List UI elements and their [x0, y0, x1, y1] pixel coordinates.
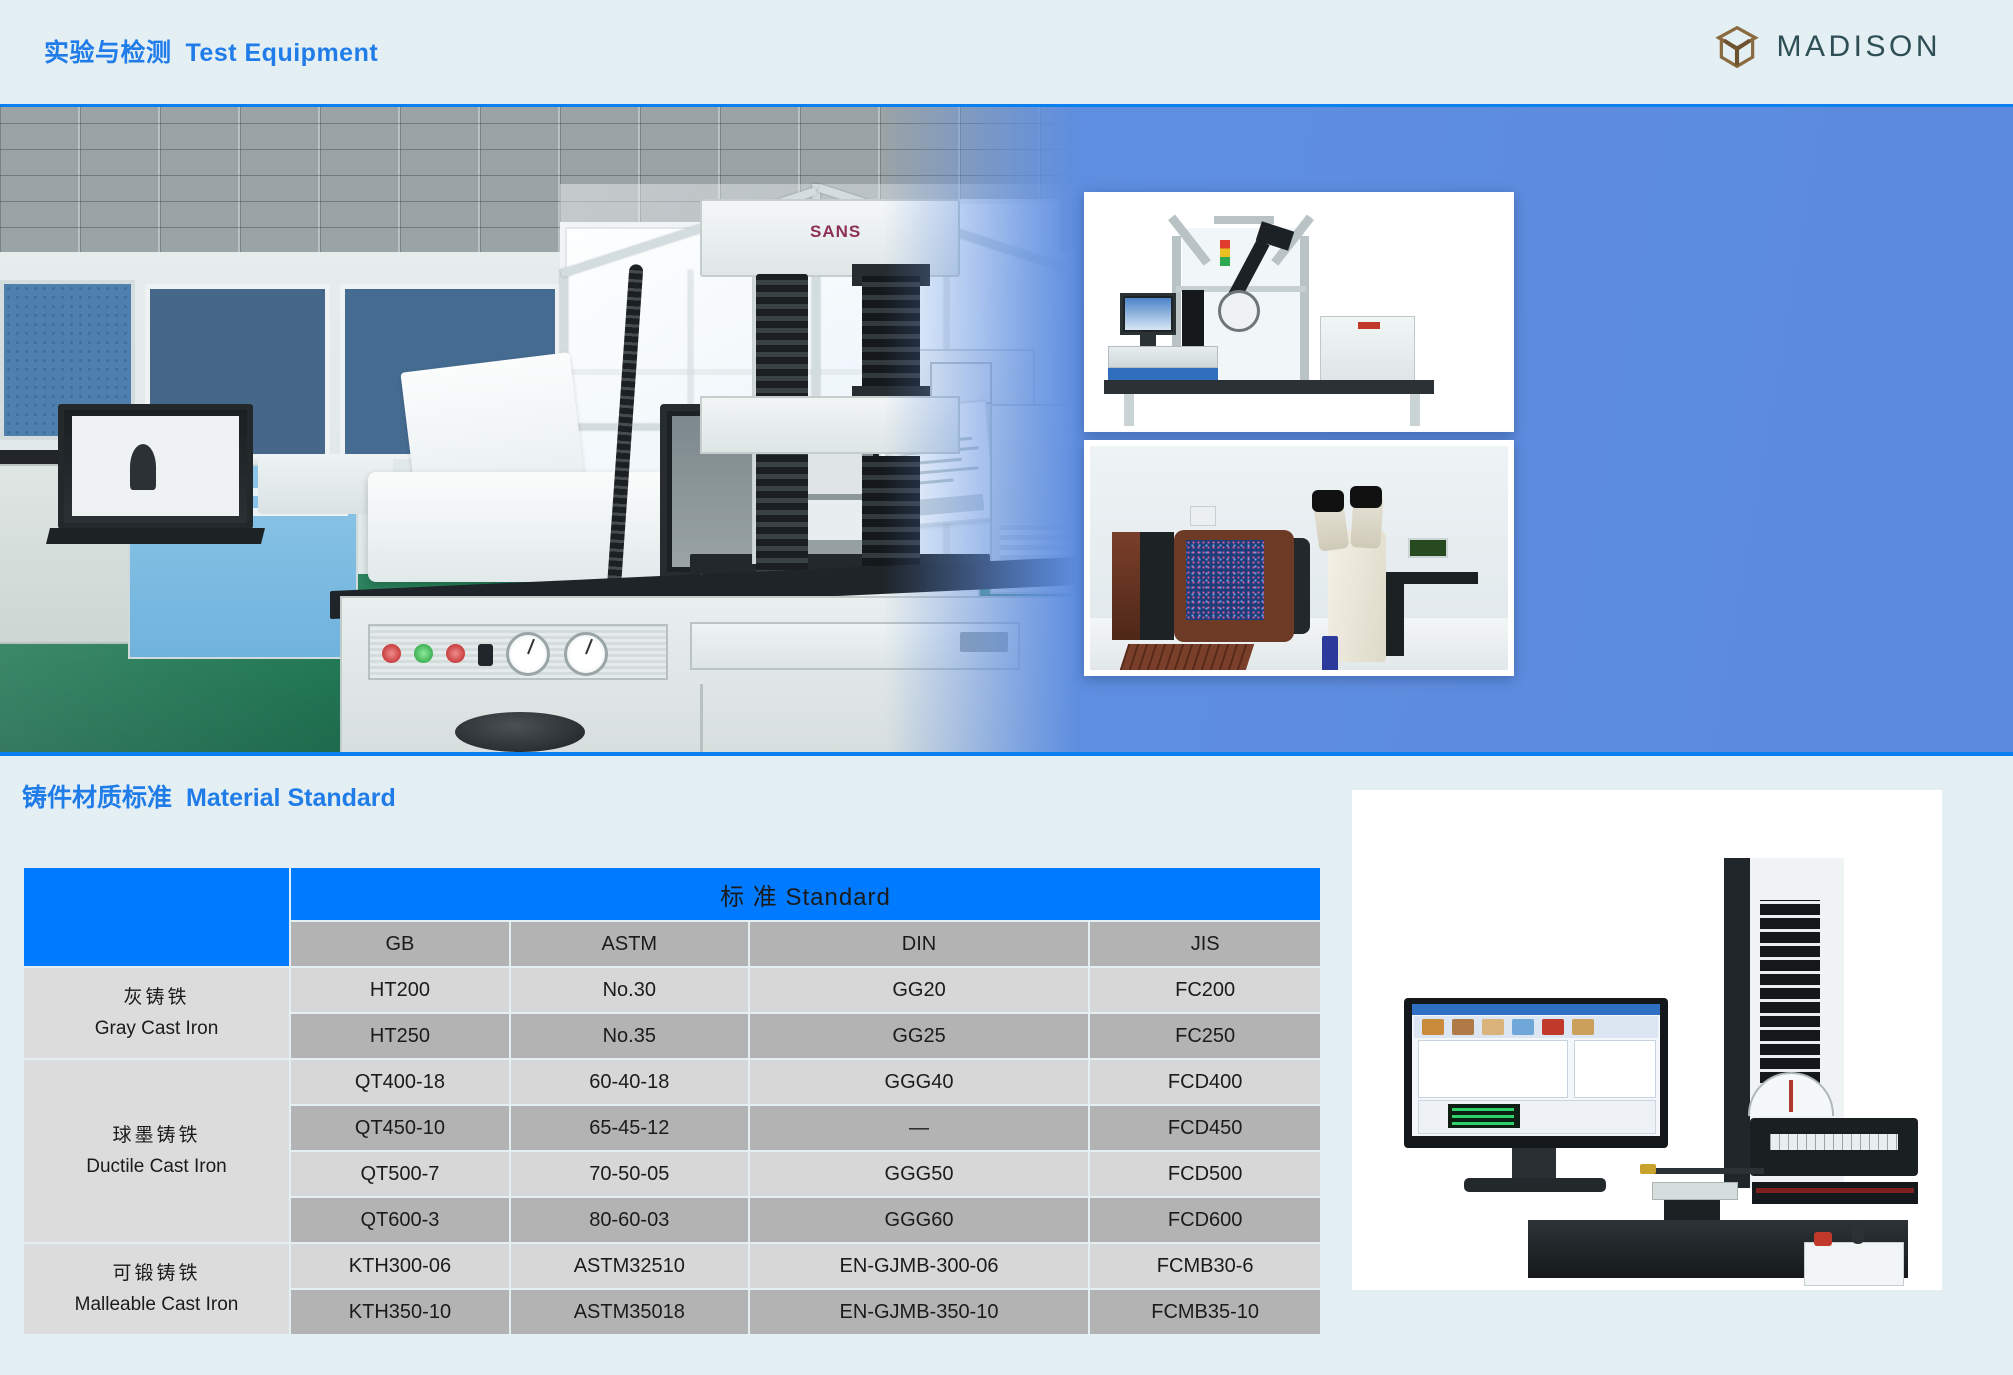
- cell-astm: ASTM32510: [511, 1244, 748, 1288]
- table-row: 可锻铸铁 Malleable Cast Iron KTH300-06 ASTM3…: [24, 1244, 1320, 1288]
- contour-measuring-machine-photo: [1352, 790, 1942, 1290]
- inset-photo-microscope: [1084, 440, 1514, 676]
- page-title-en: Test Equipment: [186, 39, 379, 67]
- cell-gb: QT600-3: [291, 1198, 509, 1242]
- table-head: 标 准 Standard GB ASTM DIN JIS: [24, 868, 1320, 966]
- cell-jis: FCD600: [1090, 1198, 1320, 1242]
- material-standard-title-en: Material Standard: [186, 784, 396, 812]
- material-standard-title: 铸件材质标准Material Standard: [22, 778, 396, 814]
- corner-cell: [24, 868, 289, 966]
- cell-gb: QT500-7: [291, 1152, 509, 1196]
- cell-jis: FCMB30-6: [1090, 1244, 1320, 1288]
- cell-din: GGG40: [750, 1060, 1089, 1104]
- cell-din: GGG60: [750, 1198, 1089, 1242]
- cell-jis: FC200: [1090, 968, 1320, 1012]
- inset-photo-wear-tester: [1084, 192, 1514, 432]
- cell-gb: KTH300-06: [291, 1244, 509, 1288]
- cell-astm: ASTM35018: [511, 1290, 748, 1334]
- cell-astm: No.30: [511, 968, 748, 1012]
- row-group-label-cn: 可锻铸铁: [24, 1258, 289, 1289]
- lab-photo: SANS: [0, 104, 1078, 756]
- cell-astm: 65-45-12: [511, 1106, 748, 1150]
- row-group-label-en: Ductile Cast Iron: [24, 1151, 289, 1182]
- column-header-gb: GB: [291, 922, 509, 966]
- standard-group-header: 标 准 Standard: [291, 868, 1320, 920]
- cell-din: GG25: [750, 1014, 1089, 1058]
- cell-gb: HT250: [291, 1014, 509, 1058]
- column-header-din: DIN: [750, 922, 1089, 966]
- cell-din: GGG50: [750, 1152, 1089, 1196]
- row-group-label-gray-cast-iron: 灰铸铁 Gray Cast Iron: [24, 968, 289, 1058]
- row-group-label-malleable-cast-iron: 可锻铸铁 Malleable Cast Iron: [24, 1244, 289, 1334]
- cell-din: EN-GJMB-300-06: [750, 1244, 1089, 1288]
- hero-top-rule: [0, 104, 2013, 107]
- catalog-page: 实验与检测Test Equipment MADISON: [0, 0, 2013, 1375]
- cell-astm: 60-40-18: [511, 1060, 748, 1104]
- table-row: 球墨铸铁 Ductile Cast Iron QT400-18 60-40-18…: [24, 1060, 1320, 1104]
- cell-din: —: [750, 1106, 1089, 1150]
- table-body: 灰铸铁 Gray Cast Iron HT200 No.30 GG20 FC20…: [24, 968, 1320, 1334]
- page-title: 实验与检测Test Equipment: [44, 33, 378, 69]
- cell-gb: QT450-10: [291, 1106, 509, 1150]
- cell-jis: FC250: [1090, 1014, 1320, 1058]
- row-group-label-cn: 球墨铸铁: [24, 1120, 289, 1151]
- cell-astm: No.35: [511, 1014, 748, 1058]
- cell-din: GG20: [750, 968, 1089, 1012]
- table-row: 灰铸铁 Gray Cast Iron HT200 No.30 GG20 FC20…: [24, 968, 1320, 1012]
- column-header-jis: JIS: [1090, 922, 1320, 966]
- material-standard-table: 标 准 Standard GB ASTM DIN JIS 灰铸铁 Gray Ca…: [22, 866, 1322, 1336]
- row-group-label-ductile-cast-iron: 球墨铸铁 Ductile Cast Iron: [24, 1060, 289, 1242]
- brand-name: MADISON: [1776, 30, 1941, 64]
- cell-gb: QT400-18: [291, 1060, 509, 1104]
- material-standard-title-cn: 铸件材质标准: [22, 784, 172, 812]
- cell-jis: FCMB35-10: [1090, 1290, 1320, 1334]
- hero-band: SANS: [0, 104, 2013, 756]
- cell-jis: FCD450: [1090, 1106, 1320, 1150]
- row-group-label-en: Malleable Cast Iron: [24, 1289, 289, 1320]
- cell-gb: HT200: [291, 968, 509, 1012]
- cell-din: EN-GJMB-350-10: [750, 1290, 1089, 1334]
- table-group-header-row: 标 准 Standard: [24, 868, 1320, 920]
- cell-jis: FCD500: [1090, 1152, 1320, 1196]
- cell-astm: 70-50-05: [511, 1152, 748, 1196]
- page-title-cn: 实验与检测: [44, 39, 172, 67]
- page-header: 实验与检测Test Equipment MADISON: [0, 0, 2013, 105]
- cell-astm: 80-60-03: [511, 1198, 748, 1242]
- cube-m-logo-icon: [1714, 24, 1760, 70]
- row-group-label-cn: 灰铸铁: [24, 982, 289, 1013]
- brand-logo: MADISON: [1714, 24, 1941, 70]
- row-group-label-en: Gray Cast Iron: [24, 1013, 289, 1044]
- column-header-astm: ASTM: [511, 922, 748, 966]
- cell-gb: KTH350-10: [291, 1290, 509, 1334]
- cell-jis: FCD400: [1090, 1060, 1320, 1104]
